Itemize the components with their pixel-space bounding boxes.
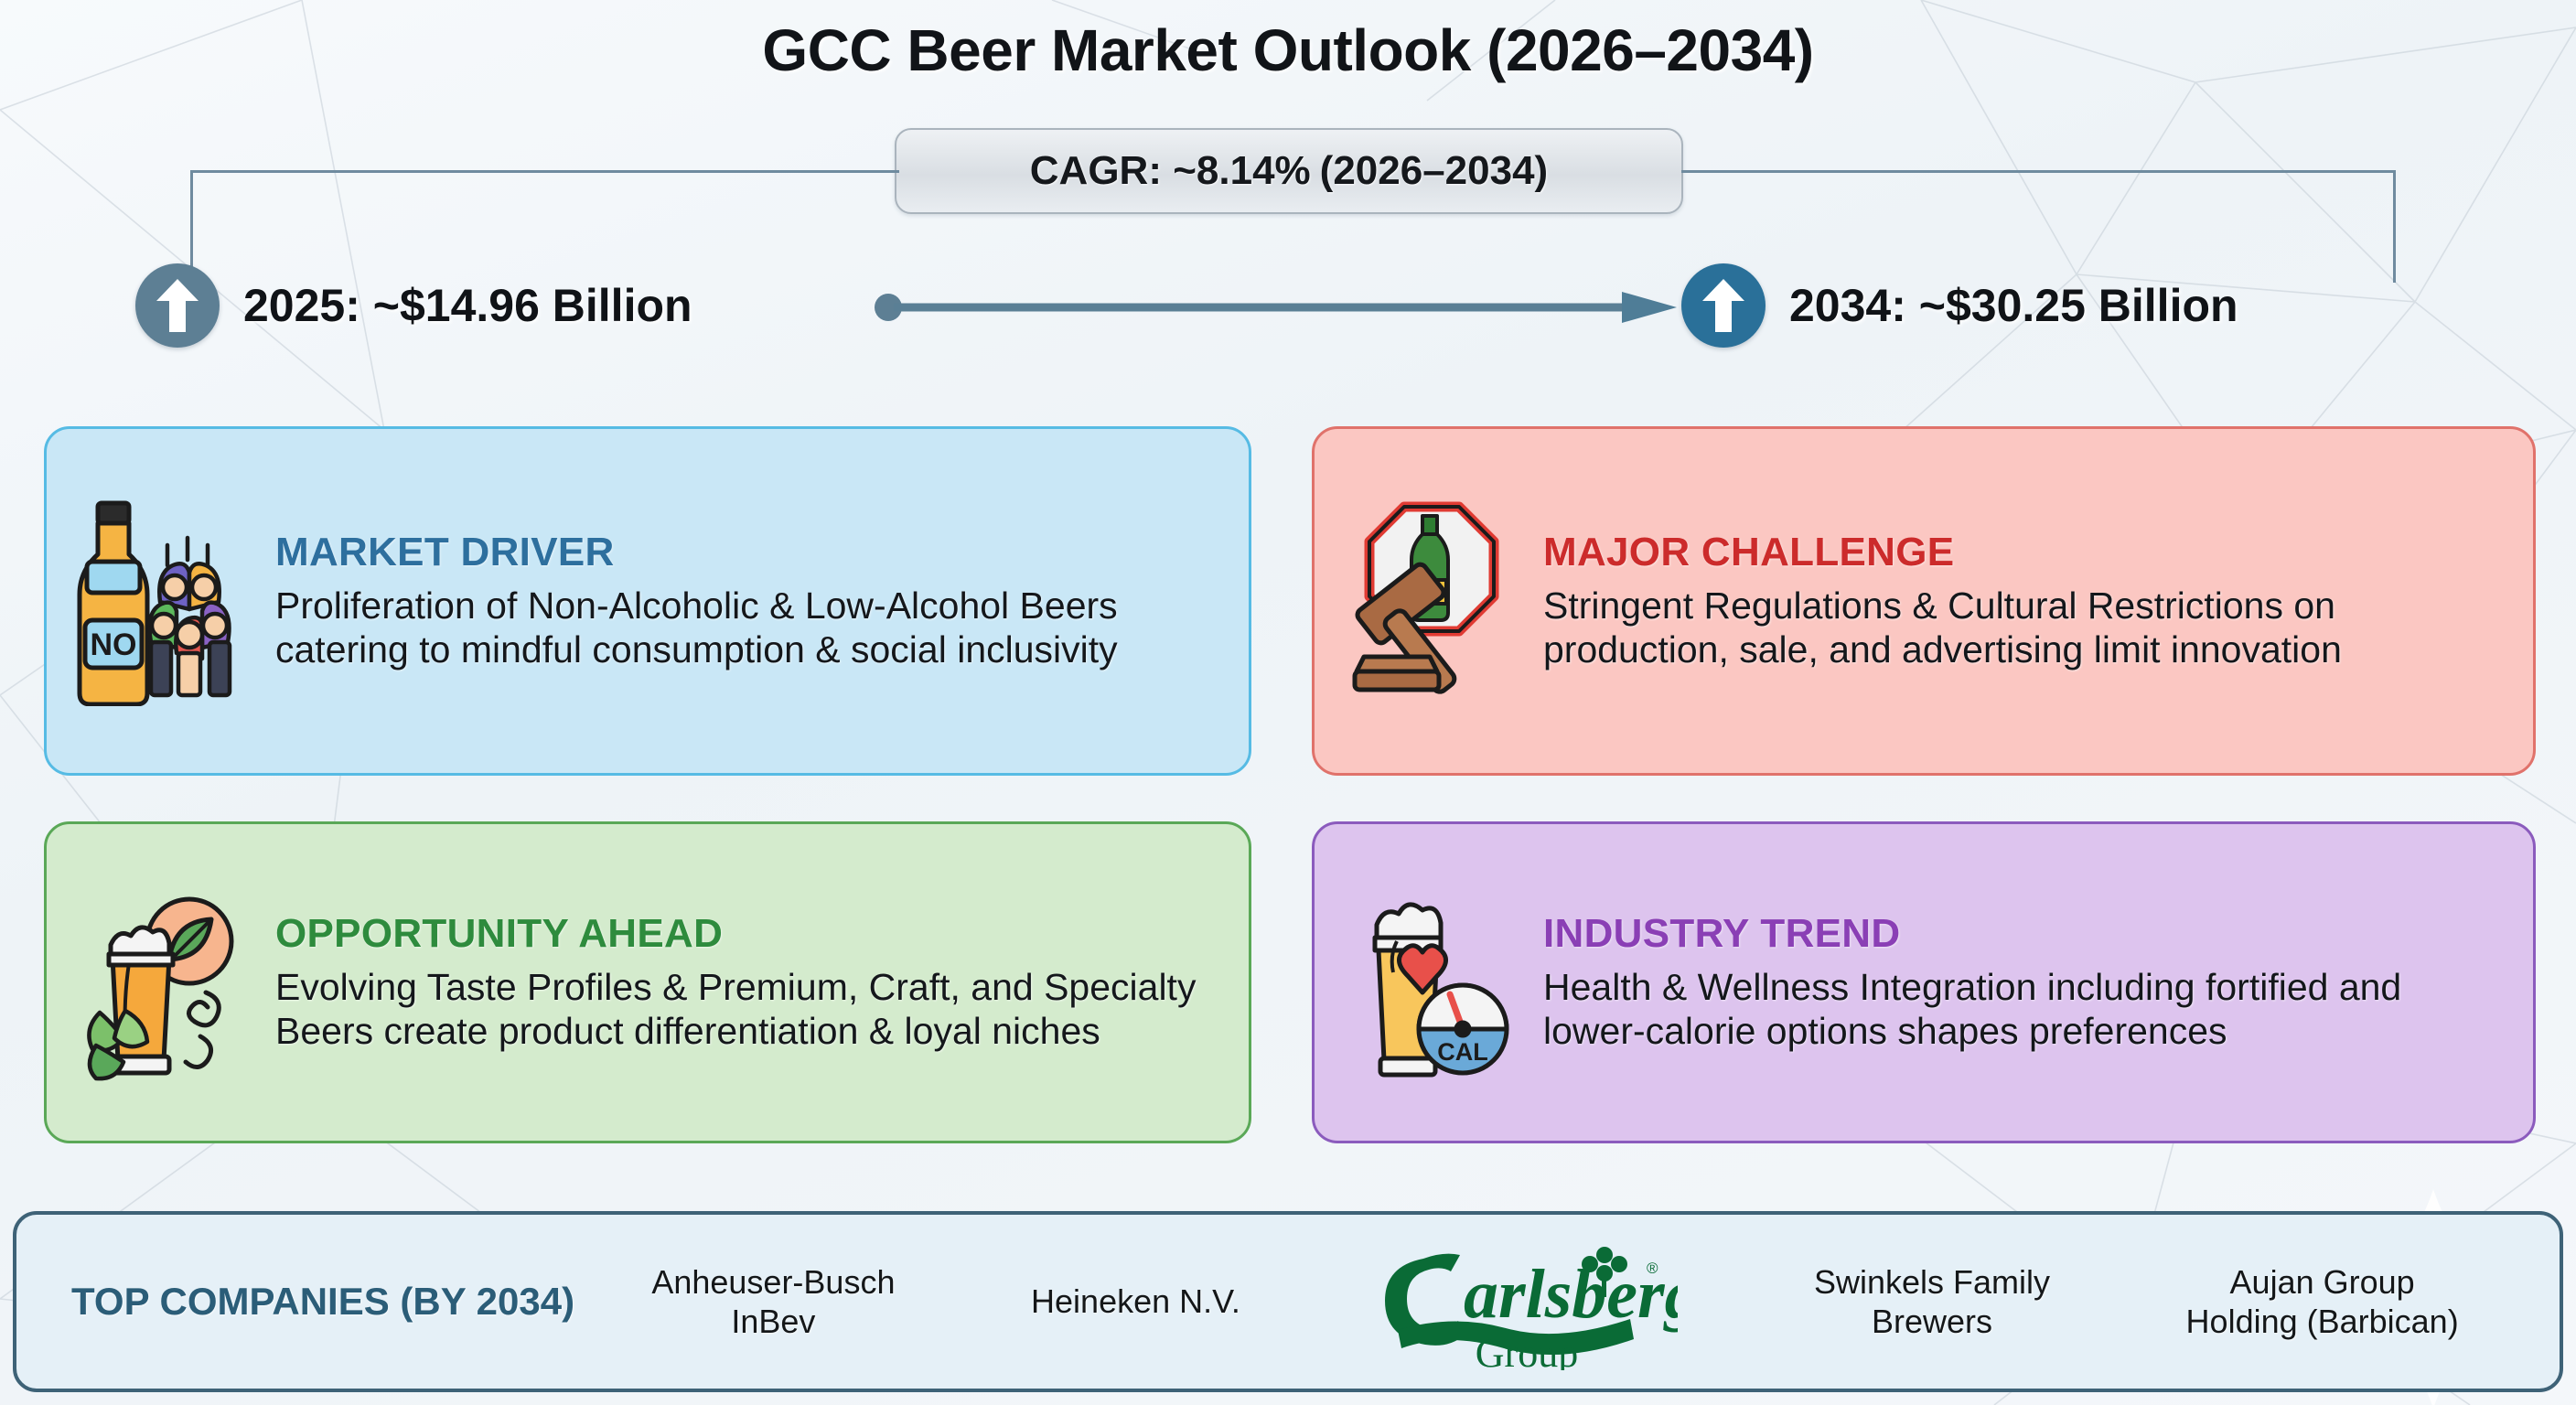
card-title: MARKET DRIVER [275,530,1221,575]
card-major-challenge-body: MAJOR CHALLENGE Stringent Regulations & … [1543,530,2506,671]
company-heineken: Heineken N.V. [1031,1282,1240,1321]
up-arrow-icon [135,263,220,348]
gavel-ban-bottle-icon [1338,496,1521,706]
value-2034: 2034: ~$30.25 Billion [1681,263,2238,348]
craft-beer-hops-icon [70,885,253,1081]
healthy-beer-calorie-icon: CAL [1338,885,1521,1081]
infographic-canvas: GCC Beer Market Outlook (2026–2034) CAGR… [0,0,2576,1405]
card-text: Stringent Regulations & Cultural Restric… [1543,585,2506,671]
card-industry-trend-body: INDUSTRY TREND Health & Wellness Integra… [1543,911,2506,1053]
svg-text:NO: NO [91,627,137,662]
svg-text:CAL: CAL [1437,1038,1488,1066]
top-companies-title: TOP COMPANIES (BY 2034) [71,1280,574,1324]
card-opportunity-ahead: OPPORTUNITY AHEAD Evolving Taste Profile… [44,821,1251,1143]
company-carlsberg-group-logo: arlsberg ® Group [1376,1233,1678,1370]
company-aujan-group-holding: Aujan Group Holding (Barbican) [2186,1262,2459,1341]
top-companies-bar: TOP COMPANIES (BY 2034) Anheuser-Busch I… [13,1211,2563,1392]
company-anheuser-busch-inbev: Anheuser-Busch InBev [651,1262,895,1341]
cagr-value: CAGR: ~8.14% [1030,148,1311,194]
svg-text:®: ® [1647,1260,1658,1277]
card-text: Evolving Taste Profiles & Premium, Craft… [275,966,1221,1053]
cagr-period: (2026–2034) [1320,148,1549,194]
cagr-badge: CAGR: ~8.14% (2026–2034) [895,128,1683,214]
card-market-driver-body: MARKET DRIVER Proliferation of Non-Alcoh… [275,530,1221,671]
svg-text:Group: Group [1476,1331,1578,1370]
card-title: MAJOR CHALLENGE [1543,530,2506,575]
page-title: GCC Beer Market Outlook (2026–2034) [0,16,2576,84]
card-text: Health & Wellness Integration including … [1543,966,2506,1053]
card-title: OPPORTUNITY AHEAD [275,911,1221,957]
card-text: Proliferation of Non-Alcoholic & Low-Alc… [275,585,1221,671]
value-2025: 2025: ~$14.96 Billion [135,263,692,348]
svg-text:arlsberg: arlsberg [1464,1256,1678,1333]
card-opportunity-ahead-body: OPPORTUNITY AHEAD Evolving Taste Profile… [275,911,1221,1053]
card-industry-trend: CAL INDUSTRY TREND Health & Wellness Int… [1312,821,2536,1143]
top-companies-list: Anheuser-Busch InBev Heineken N.V. arlsb… [584,1233,2527,1370]
card-market-driver: NO [44,426,1251,776]
non-alcoholic-beer-bottle-icon: NO [70,496,253,706]
value-2034-label: 2034: ~$30.25 Billion [1789,279,2238,332]
up-arrow-icon [1681,263,1766,348]
growth-arrow [874,289,1679,326]
value-2025-label: 2025: ~$14.96 Billion [243,279,692,332]
company-swinkels-family-brewers: Swinkels Family Brewers [1814,1262,2050,1341]
card-major-challenge: MAJOR CHALLENGE Stringent Regulations & … [1312,426,2536,776]
card-title: INDUSTRY TREND [1543,911,2506,957]
